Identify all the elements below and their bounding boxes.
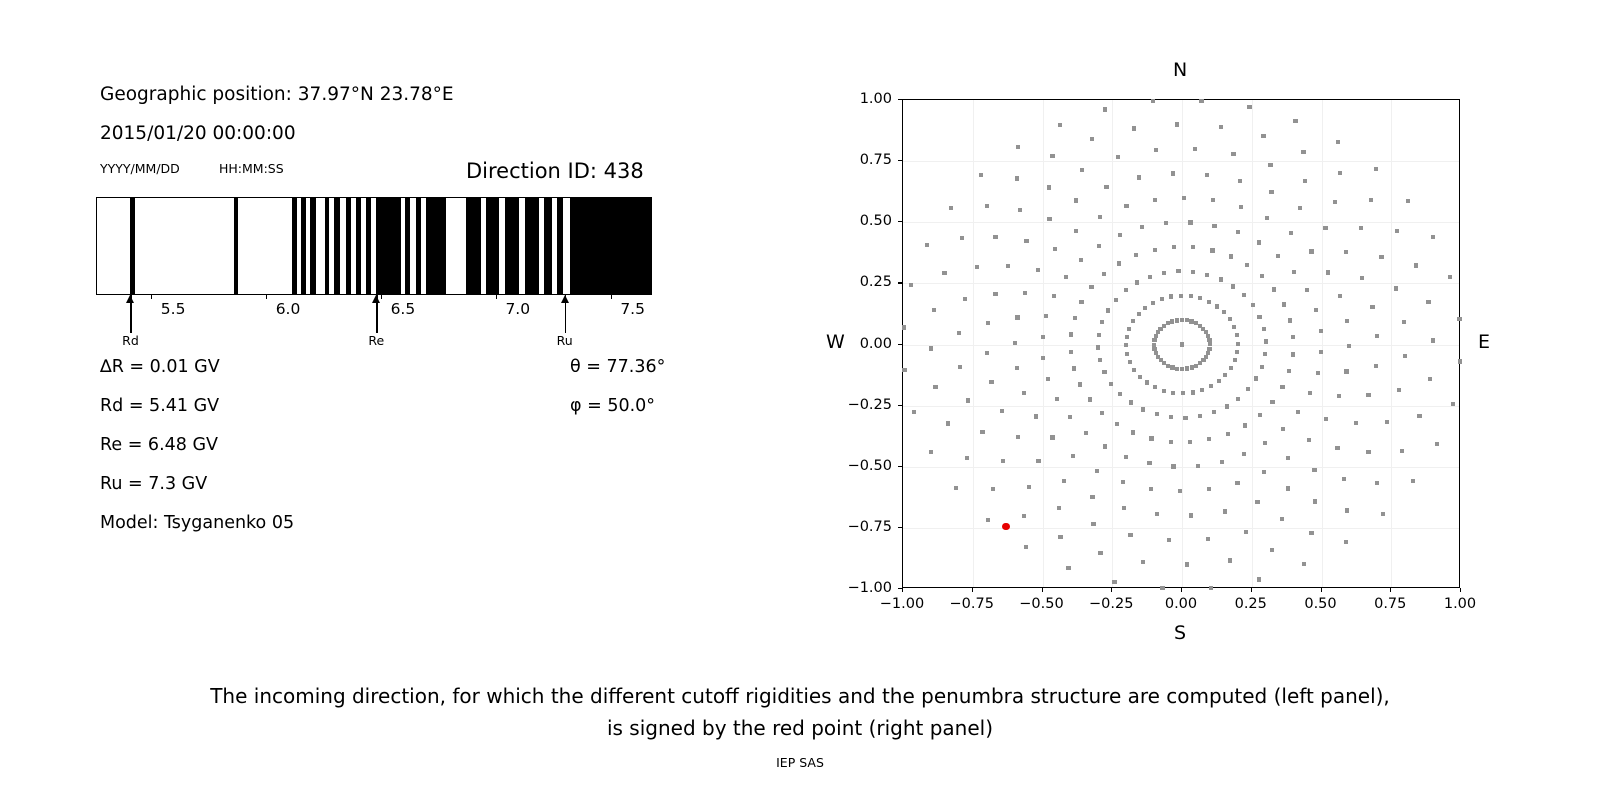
direction-point	[1013, 341, 1017, 345]
direction-point	[1426, 300, 1430, 304]
direction-point	[1319, 329, 1323, 333]
direction-point	[1288, 318, 1292, 322]
direction-point	[1100, 411, 1104, 415]
direction-point	[1162, 271, 1166, 275]
direction-point	[1155, 512, 1159, 516]
direction-point	[1088, 397, 1092, 401]
direction-point	[1198, 414, 1202, 418]
direction-point	[1265, 216, 1269, 220]
direction-point	[1344, 250, 1348, 254]
x-axis-tick-mark	[1321, 588, 1322, 592]
direction-point	[1347, 344, 1351, 348]
direction-point	[1074, 229, 1078, 233]
x-axis-tick-label: −0.50	[1019, 596, 1063, 612]
direction-point	[1406, 199, 1410, 203]
direction-point	[1312, 468, 1316, 472]
direction-point	[1114, 298, 1118, 302]
direction-point	[1143, 306, 1147, 310]
direction-point	[1069, 350, 1073, 354]
y-axis-tick-label: 1.00	[860, 91, 892, 107]
direction-point	[1402, 320, 1406, 324]
direction-point	[985, 351, 989, 355]
direction-point	[1314, 308, 1318, 312]
direction-point	[1145, 380, 1149, 384]
direction-point	[1034, 414, 1038, 418]
direction-point	[1079, 300, 1083, 304]
direction-point	[1189, 513, 1193, 517]
direction-point	[1258, 413, 1262, 417]
direction-point	[1228, 317, 1232, 321]
direction-point	[1138, 375, 1142, 379]
direction-point	[1414, 263, 1418, 267]
direction-point	[1132, 368, 1136, 372]
angle-parameter-row: θ = 77.36°	[570, 357, 665, 377]
direction-point	[958, 365, 962, 369]
direction-point	[1292, 270, 1296, 274]
selected-direction-point	[1002, 523, 1010, 531]
direction-point	[1175, 122, 1179, 126]
direction-point	[1381, 512, 1385, 516]
direction-point	[1137, 312, 1141, 316]
direction-point	[1395, 229, 1399, 233]
direction-point	[993, 235, 997, 239]
direction-point	[1281, 427, 1285, 431]
direction-point	[1066, 566, 1070, 570]
direction-point	[1324, 417, 1328, 421]
direction-point	[909, 283, 913, 287]
direction-point	[1264, 339, 1268, 343]
direction-point	[1302, 562, 1306, 566]
x-axis-tick-mark	[902, 588, 903, 592]
direction-point	[979, 173, 983, 177]
direction-point	[1374, 167, 1378, 171]
direction-point	[1200, 388, 1204, 392]
direction-point	[1095, 469, 1099, 473]
direction-point	[929, 346, 933, 350]
direction-point	[1181, 391, 1185, 395]
direction-point	[989, 380, 993, 384]
direction-point	[1222, 310, 1226, 314]
direction-point	[1251, 303, 1255, 307]
direction-point	[986, 518, 990, 522]
direction-point	[1245, 263, 1249, 267]
compass-north-label: N	[1173, 59, 1187, 81]
direction-point	[1270, 548, 1274, 552]
direction-point	[1091, 522, 1095, 526]
direction-point	[1079, 258, 1083, 262]
direction-point	[1182, 196, 1186, 200]
direction-point	[1204, 355, 1208, 359]
direction-point	[1309, 249, 1313, 253]
direction-point	[1097, 244, 1101, 248]
direction-point	[1084, 431, 1088, 435]
figure-caption: The incoming direction, for which the di…	[0, 680, 1600, 744]
direction-point	[1305, 288, 1309, 292]
direction-point	[1188, 440, 1192, 444]
parameter-row: Ru = 7.3 GV	[100, 474, 207, 494]
caption-line-2: is signed by the red point (right panel)	[0, 712, 1600, 744]
direction-point	[1149, 487, 1153, 491]
direction-point	[1198, 296, 1202, 300]
direction-point	[1268, 163, 1272, 167]
direction-point	[1207, 338, 1211, 342]
direction-point	[1072, 366, 1076, 370]
y-axis-tick-mark	[898, 99, 902, 100]
direction-point	[1125, 335, 1129, 339]
direction-point	[1345, 319, 1349, 323]
direction-point	[1366, 450, 1370, 454]
direction-point	[1128, 360, 1132, 364]
parameter-list-right: θ = 77.36°φ = 50.0°	[0, 0, 760, 300]
direction-point	[1096, 345, 1100, 349]
direction-point	[1319, 350, 1323, 354]
direction-point	[1151, 99, 1155, 103]
direction-point	[1235, 481, 1239, 485]
direction-point	[1326, 270, 1330, 274]
direction-point	[1127, 327, 1131, 331]
left-panel: Geographic position: 37.97°N 23.78°E 201…	[0, 0, 760, 660]
direction-point	[1226, 432, 1230, 436]
direction-point	[1064, 275, 1068, 279]
y-axis-tick-label: −0.75	[848, 519, 892, 535]
direction-point	[1183, 416, 1187, 420]
direction-point	[1153, 198, 1157, 202]
direction-point	[1242, 452, 1246, 456]
direction-point	[1057, 506, 1061, 510]
direction-point	[1166, 321, 1170, 325]
direction-point	[912, 410, 916, 414]
direction-point	[1293, 119, 1297, 123]
direction-point	[1219, 125, 1223, 129]
y-axis-tick-mark	[898, 160, 902, 161]
direction-point	[1207, 487, 1211, 491]
direction-point	[1260, 365, 1264, 369]
parameter-row: Re = 6.48 GV	[100, 435, 218, 455]
direction-point	[1338, 294, 1342, 298]
direction-point	[1206, 537, 1210, 541]
direction-point	[1018, 208, 1022, 212]
direction-point	[1303, 179, 1307, 183]
direction-point	[1106, 308, 1110, 312]
direction-point	[1001, 459, 1005, 463]
direction-point	[1109, 382, 1113, 386]
direction-point	[1359, 226, 1363, 230]
direction-point	[1117, 261, 1121, 265]
direction-point	[1199, 99, 1203, 103]
direction-point	[1160, 297, 1164, 301]
direction-point	[954, 486, 958, 490]
direction-map-plot	[902, 99, 1460, 588]
direction-point	[1212, 410, 1216, 414]
x-axis-tick-label: 0.00	[1165, 596, 1197, 612]
direction-point	[1172, 245, 1176, 249]
direction-point	[1180, 367, 1184, 371]
footer-label: IEP SAS	[0, 755, 1600, 770]
direction-point	[1074, 198, 1078, 202]
direction-point	[1022, 391, 1026, 395]
y-axis-ticks: 1.000.750.500.250.00−0.25−0.50−0.75−1.00	[820, 0, 902, 660]
direction-point	[1189, 319, 1193, 323]
direction-point	[1050, 154, 1054, 158]
direction-point	[925, 243, 929, 247]
direction-point	[1370, 305, 1374, 309]
direction-point	[1041, 335, 1045, 339]
direction-point	[1243, 423, 1247, 427]
direction-point	[1191, 245, 1195, 249]
marker-label: Rd	[122, 333, 139, 348]
direction-point	[1052, 294, 1056, 298]
direction-point	[1148, 275, 1152, 279]
direction-point	[1233, 358, 1237, 362]
direction-point	[1194, 321, 1198, 325]
direction-point	[902, 325, 906, 329]
direction-point	[1242, 293, 1246, 297]
direction-point	[1262, 470, 1266, 474]
direction-point	[1207, 300, 1211, 304]
direction-point	[1272, 287, 1276, 291]
direction-point	[932, 308, 936, 312]
direction-point	[1015, 176, 1019, 180]
direction-point	[1179, 294, 1183, 298]
direction-point	[1344, 369, 1348, 373]
direction-point	[1196, 464, 1200, 468]
direction-point	[1068, 415, 1072, 419]
direction-point	[1191, 390, 1195, 394]
direction-point	[1206, 351, 1210, 355]
direction-point	[1073, 316, 1077, 320]
direction-point	[1125, 352, 1129, 356]
direction-point	[1170, 365, 1174, 369]
direction-point	[1231, 152, 1235, 156]
direction-point	[1276, 254, 1280, 258]
direction-point	[1175, 318, 1179, 322]
direction-point	[1016, 435, 1020, 439]
direction-point	[1149, 436, 1153, 440]
direction-point	[1223, 373, 1227, 377]
direction-point	[1100, 320, 1104, 324]
direction-point	[1135, 280, 1139, 284]
direction-point	[1185, 366, 1189, 370]
x-axis-tick-mark	[1181, 588, 1182, 592]
direction-point	[1291, 335, 1295, 339]
direction-point	[975, 265, 979, 269]
direction-point	[1232, 325, 1236, 329]
direction-point	[1397, 388, 1401, 392]
direction-point	[1209, 384, 1213, 388]
direction-point	[1428, 377, 1432, 381]
right-panel: N E S W 1.000.750.500.250.00−0.25−0.50−0…	[820, 0, 1600, 660]
direction-point	[1046, 377, 1050, 381]
direction-point	[1129, 400, 1133, 404]
direction-point	[1171, 391, 1175, 395]
direction-point	[1000, 409, 1004, 413]
direction-point	[1375, 334, 1379, 338]
direction-point	[1344, 540, 1348, 544]
y-axis-tick-label: 0.50	[860, 213, 892, 229]
direction-point	[1097, 333, 1101, 337]
direction-point	[1147, 461, 1151, 465]
direction-point	[1280, 517, 1284, 521]
direction-point	[1171, 171, 1175, 175]
direction-point	[1260, 274, 1264, 278]
y-axis-tick-mark	[898, 221, 902, 222]
direction-point	[1255, 500, 1259, 504]
direction-point	[1103, 444, 1107, 448]
direction-point	[1023, 291, 1027, 295]
direction-point	[1286, 456, 1290, 460]
direction-point	[1015, 315, 1019, 319]
direction-point	[1151, 301, 1155, 305]
direction-point	[986, 321, 990, 325]
direction-point	[1223, 509, 1227, 513]
direction-point	[1280, 385, 1284, 389]
direction-point	[1167, 538, 1171, 542]
direction-point	[1212, 224, 1216, 228]
direction-point	[985, 204, 989, 208]
direction-point	[1458, 359, 1462, 363]
direction-point	[1055, 397, 1059, 401]
direction-point	[1215, 304, 1219, 308]
x-axis-tick-mark	[1460, 588, 1461, 592]
direction-point	[1309, 531, 1313, 535]
direction-point	[1175, 367, 1179, 371]
angle-parameter-row: φ = 50.0°	[570, 396, 655, 416]
direction-point	[1211, 198, 1215, 202]
direction-point	[1131, 430, 1135, 434]
direction-point	[1431, 235, 1435, 239]
caption-line-1: The incoming direction, for which the di…	[0, 680, 1600, 712]
x-axis-tick-label: 0.25	[1235, 596, 1267, 612]
direction-point	[991, 487, 995, 491]
direction-point	[980, 430, 984, 434]
direction-point	[1206, 334, 1210, 338]
y-axis-tick-mark	[898, 466, 902, 467]
direction-point	[1400, 449, 1404, 453]
direction-point	[1128, 533, 1132, 537]
direction-point	[1208, 342, 1212, 346]
x-axis-tick-mark	[1251, 588, 1252, 592]
direction-point	[1191, 270, 1195, 274]
direction-point	[1104, 185, 1108, 189]
y-axis-tick-mark	[898, 344, 902, 345]
direction-point	[965, 456, 969, 460]
direction-point	[1354, 421, 1358, 425]
direction-point	[1058, 535, 1062, 539]
direction-point	[1289, 231, 1293, 235]
direction-point	[1171, 464, 1175, 468]
marker-label: Re	[368, 333, 384, 348]
direction-point	[1193, 147, 1197, 151]
direction-point	[1122, 506, 1126, 510]
direction-point	[1379, 255, 1383, 259]
direction-point	[1112, 580, 1116, 584]
direction-point	[1090, 495, 1094, 499]
direction-point	[1169, 415, 1173, 419]
direction-point	[1116, 155, 1120, 159]
direction-point	[1291, 352, 1295, 356]
direction-point	[1098, 215, 1102, 219]
direction-point	[1015, 366, 1019, 370]
direction-point	[1134, 253, 1138, 257]
direction-point	[1058, 123, 1062, 127]
direction-point	[946, 421, 950, 425]
direction-point	[1257, 315, 1261, 319]
direction-point	[1263, 352, 1267, 356]
direction-point	[942, 271, 946, 275]
direction-point	[1263, 441, 1267, 445]
direction-point	[1162, 389, 1166, 393]
direction-point	[1411, 479, 1415, 483]
direction-point	[1207, 437, 1211, 441]
y-axis-tick-label: 0.75	[860, 152, 892, 168]
direction-point	[1198, 324, 1202, 328]
direction-point	[1342, 477, 1346, 481]
compass-east-label: E	[1478, 331, 1490, 353]
direction-point	[1047, 217, 1051, 221]
x-axis-tick-label: −0.25	[1089, 596, 1133, 612]
direction-point	[1235, 333, 1239, 337]
direction-point	[1236, 342, 1240, 346]
direction-point	[1180, 342, 1184, 346]
x-axis-tick-mark	[972, 588, 973, 592]
direction-point	[1098, 551, 1102, 555]
direction-point	[1210, 248, 1214, 252]
direction-point	[1375, 481, 1379, 485]
direction-point	[1257, 577, 1261, 581]
direction-point	[1228, 558, 1232, 562]
direction-point	[1385, 420, 1389, 424]
direction-point	[1235, 350, 1239, 354]
direction-point	[1236, 397, 1240, 401]
direction-point	[1301, 150, 1305, 154]
y-axis-tick-label: 0.25	[860, 274, 892, 290]
direction-point	[1185, 318, 1189, 322]
direction-point	[1366, 393, 1370, 397]
direction-point	[1155, 412, 1159, 416]
direction-point	[1239, 205, 1243, 209]
direction-point	[1336, 140, 1340, 144]
direction-point	[1176, 269, 1180, 273]
direction-point	[1394, 286, 1398, 290]
direction-point	[1333, 200, 1337, 204]
direction-point	[1132, 126, 1136, 130]
direction-point	[1036, 459, 1040, 463]
direction-point	[1041, 356, 1045, 360]
y-axis-tick-label: −0.25	[848, 397, 892, 413]
direction-point	[1131, 319, 1135, 323]
direction-point	[957, 331, 961, 335]
x-axis-tick-mark	[1111, 588, 1112, 592]
direction-point	[1337, 394, 1341, 398]
direction-point	[1313, 499, 1317, 503]
direction-point	[1115, 422, 1119, 426]
direction-point	[1307, 438, 1311, 442]
direction-point	[949, 206, 953, 210]
direction-point	[1024, 545, 1028, 549]
direction-point	[1137, 175, 1141, 179]
parameter-row: Rd = 5.41 GV	[100, 396, 219, 416]
direction-point	[1335, 446, 1339, 450]
direction-point	[1141, 560, 1145, 564]
direction-point	[1006, 264, 1010, 268]
direction-point	[1044, 314, 1048, 318]
direction-point	[1374, 364, 1378, 368]
direction-point	[1238, 179, 1242, 183]
parameter-row: Model: Tsyganenko 05	[100, 513, 294, 533]
direction-point	[1169, 440, 1173, 444]
direction-point	[1141, 407, 1145, 411]
direction-point	[1316, 371, 1320, 375]
